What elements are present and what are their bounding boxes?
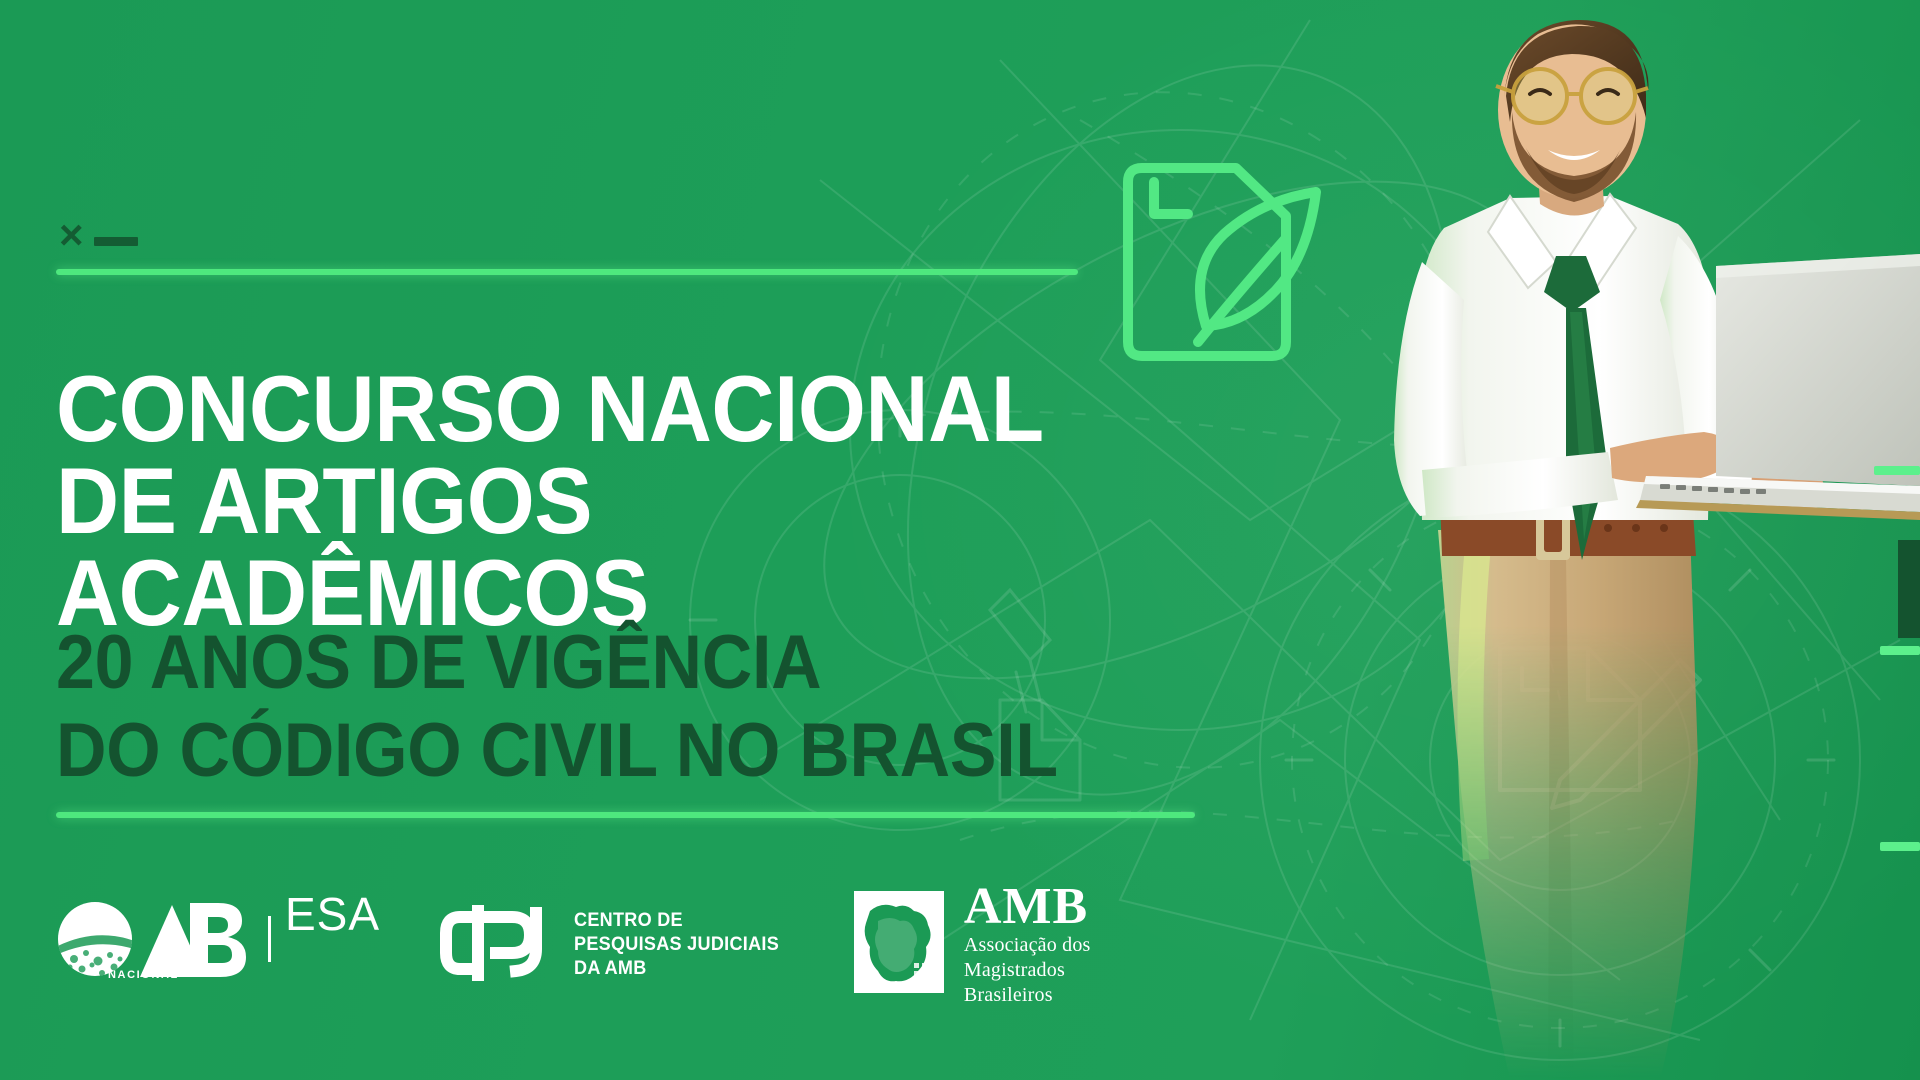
page-title: CONCURSO NACIONAL DE ARTIGOS ACADÊMICOS xyxy=(56,363,1172,639)
cpj-mark xyxy=(438,903,558,988)
divider-bottom xyxy=(56,812,1195,818)
brazil-map-icon xyxy=(848,887,950,1002)
cpj-label: CENTRO DE PESQUISAS JUDICIAIS DA AMB xyxy=(574,909,779,982)
amb-logo: AMB Associação dos Magistrados Brasileir… xyxy=(848,882,1091,1009)
oab-logo: NACIONAL ESA xyxy=(56,895,380,996)
esa-label: ESA xyxy=(285,891,380,937)
oab-esa-divider xyxy=(268,916,271,962)
amb-title: AMB xyxy=(964,882,1091,931)
edge-accent-dash-2 xyxy=(1880,646,1920,655)
edge-accent-block xyxy=(1898,540,1920,638)
promotional-banner: × CONCURSO NACIONAL DE ARTIGOS ACADÊMICO… xyxy=(0,0,1920,1080)
logo-strip: NACIONAL ESA CENTR xyxy=(56,880,1091,1010)
x-glyph: × xyxy=(59,214,84,256)
amb-subtitle: Associação dos Magistrados Brasileiros xyxy=(964,933,1091,1009)
banner-content: × CONCURSO NACIONAL DE ARTIGOS ACADÊMICO… xyxy=(56,0,1236,1080)
page-subtitle: 20 ANOS DE VIGÊNCIA DO CÓDIGO CIVIL NO B… xyxy=(56,619,1160,795)
cpj-logo: CENTRO DE PESQUISAS JUDICIAIS DA AMB xyxy=(438,903,790,988)
edge-accent-dash-1 xyxy=(1874,466,1920,475)
amb-text: AMB Associação dos Magistrados Brasileir… xyxy=(964,882,1091,1009)
photo-man-with-laptop xyxy=(1360,0,1920,1080)
oab-mark: NACIONAL xyxy=(56,895,254,996)
dash-glyph xyxy=(94,237,138,246)
oab-tagline: NACIONAL xyxy=(108,969,179,981)
divider-top xyxy=(56,269,1078,275)
edge-accent-dash-3 xyxy=(1880,842,1920,851)
x-dash-mark-icon: × xyxy=(59,214,138,256)
